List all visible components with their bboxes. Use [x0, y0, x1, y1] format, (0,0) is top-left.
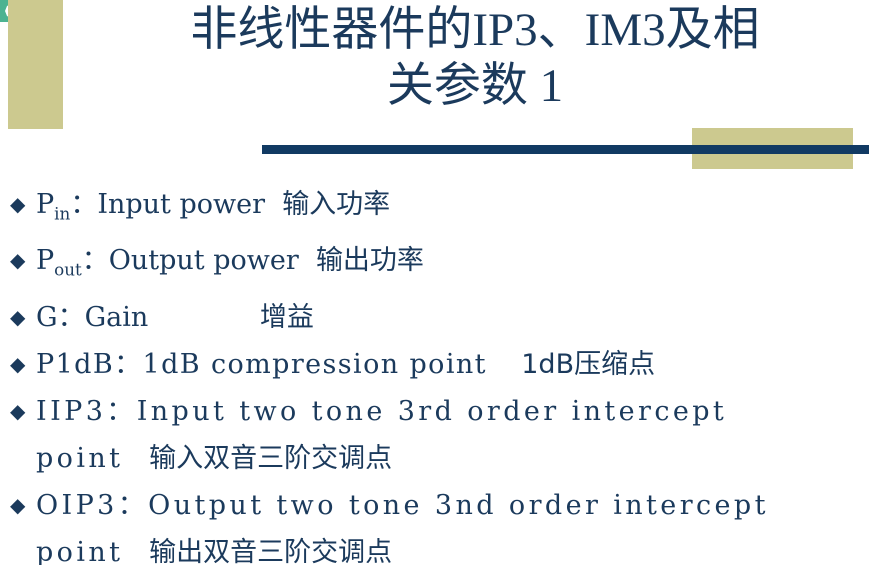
separator: ：	[118, 490, 148, 521]
term-subscript: out	[54, 260, 82, 280]
chinese-text: 输出功率	[316, 245, 424, 276]
term-label: P	[36, 189, 54, 220]
chinese-text: 输入双音三阶交调点	[149, 443, 392, 474]
term-label: G	[36, 302, 58, 333]
term-label: IIP3	[36, 396, 106, 427]
list-item: ◆ Pout：Output power 输出功率	[6, 237, 877, 293]
term-subscript: in	[54, 203, 70, 223]
bullet-diamond-icon: ◆	[10, 294, 36, 341]
slide-title: 非线性器件的IP3、IM3及相 关参数 1	[95, 2, 855, 114]
chinese-text: 输入功率	[282, 189, 390, 220]
list-item-content: P1dB：1dB compression point 1dB压缩点	[36, 341, 877, 388]
spacer	[299, 245, 316, 276]
bullet-diamond-icon: ◆	[10, 341, 36, 388]
english-text: 1dB compression point	[142, 349, 486, 380]
chinese-text: 1dB压缩点	[521, 349, 655, 380]
chinese-text: 增益	[260, 302, 314, 333]
english-text: Gain	[85, 302, 149, 333]
separator: ：	[106, 396, 136, 427]
spacer	[123, 443, 149, 474]
separator: ：	[114, 349, 142, 380]
bullet-list: ◆ Pin：Input power 输入功率 ◆ Pout：Output pow…	[6, 181, 877, 565]
spacer	[487, 349, 521, 380]
list-item-content: OIP3：Output two tone 3nd order intercept…	[36, 482, 877, 565]
list-item-content: Pout：Output power 输出功率	[36, 237, 877, 293]
list-item: ◆ P1dB：1dB compression point 1dB压缩点	[6, 341, 877, 388]
term-label: P	[36, 245, 54, 276]
bullet-diamond-icon: ◆	[10, 388, 36, 435]
list-item: ◆ OIP3：Output two tone 3nd order interce…	[6, 482, 877, 565]
title-divider-rule	[262, 145, 869, 154]
list-item: ◆ Pin：Input power 输入功率	[6, 181, 877, 237]
spacer	[265, 189, 282, 220]
bullet-diamond-icon: ◆	[10, 237, 36, 284]
list-item: ◆ IIP3：Input two tone 3rd order intercep…	[6, 388, 877, 482]
spacer	[123, 537, 149, 565]
separator: ：	[58, 302, 85, 333]
list-item-content: IIP3：Input two tone 3rd order intercept …	[36, 388, 877, 482]
separator: ：	[70, 189, 97, 220]
english-text: Output power	[109, 245, 299, 276]
term-label: OIP3	[36, 490, 118, 521]
english-text: Input power	[97, 189, 265, 220]
list-item-content: Pin：Input power 输入功率	[36, 181, 877, 237]
separator: ：	[82, 245, 109, 276]
list-item: ◆ G：Gain 增益	[6, 294, 877, 341]
decorative-left-band	[8, 0, 63, 129]
bullet-diamond-icon: ◆	[10, 482, 36, 529]
spacer	[148, 302, 260, 333]
bullet-diamond-icon: ◆	[10, 181, 36, 228]
term-label: P1dB	[36, 349, 114, 380]
list-item-content: G：Gain 增益	[36, 294, 877, 341]
chinese-text: 输出双音三阶交调点	[149, 537, 392, 565]
presentation-slide: 非线性器件的IP3、IM3及相 关参数 1 ◆ Pin：Input power …	[0, 0, 877, 565]
